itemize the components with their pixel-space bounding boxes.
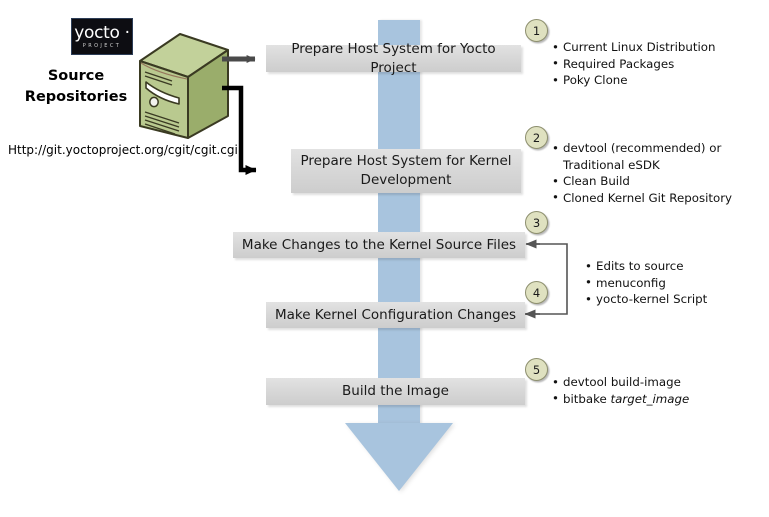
- source-label-line1: Source: [16, 66, 136, 87]
- note-item: bitbake target_image: [552, 391, 689, 408]
- notes-steps-3-4: Edits to source menuconfig yocto-kernel …: [585, 258, 707, 308]
- logo-subtext: PROJECT: [83, 44, 121, 49]
- source-repository-url[interactable]: Http://git.yoctoproject.org/cgit/cgit.cg…: [8, 143, 238, 157]
- note-item: devtool build-image: [552, 374, 689, 391]
- note-item: Cloned Kernel Git Repository: [552, 190, 727, 207]
- notes-step-1: Current Linux Distribution Required Pack…: [552, 39, 715, 89]
- note-item: devtool (recommended) or Traditional eSD…: [552, 140, 727, 173]
- step-badge-2: 2: [525, 126, 548, 149]
- note-item: Required Packages: [552, 56, 715, 73]
- note-bitbake-command: bitbake: [563, 392, 611, 406]
- source-repository-server-icon: [132, 28, 236, 140]
- notes-step-2: devtool (recommended) or Traditional eSD…: [552, 140, 727, 206]
- yocto-project-logo: yocto · PROJECT: [71, 18, 133, 55]
- note-item: Edits to source: [585, 258, 707, 275]
- source-repositories-label: Source Repositories: [16, 66, 136, 108]
- note-bitbake-target: target_image: [611, 392, 690, 406]
- diagram-canvas: yocto · PROJECT Source: [0, 0, 769, 517]
- step-badge-1: 1: [525, 19, 548, 42]
- step-badge-4: 4: [525, 281, 548, 304]
- step-badge-3: 3: [525, 211, 548, 234]
- notes-step-5: devtool build-image bitbake target_image: [552, 374, 689, 407]
- note-item: yocto-kernel Script: [585, 291, 707, 308]
- logo-wordmark: yocto ·: [74, 25, 130, 42]
- note-item: menuconfig: [585, 275, 707, 292]
- process-box-step-4[interactable]: Make Kernel Configuration Changes: [266, 302, 525, 328]
- note-item: Clean Build: [552, 173, 727, 190]
- step-badge-5: 5: [525, 358, 548, 381]
- process-box-step-1[interactable]: Prepare Host System for Yocto Project: [266, 45, 521, 72]
- note-item: Current Linux Distribution: [552, 39, 715, 56]
- source-label-line2: Repositories: [16, 87, 136, 108]
- flow-arrow-head: [345, 423, 453, 491]
- note-item: Poky Clone: [552, 72, 715, 89]
- process-box-step-5[interactable]: Build the Image: [266, 378, 525, 405]
- process-box-step-3[interactable]: Make Changes to the Kernel Source Files: [233, 232, 525, 258]
- flow-arrow-shaft: [378, 20, 420, 426]
- process-box-step-2[interactable]: Prepare Host System for Kernel Developme…: [291, 149, 521, 193]
